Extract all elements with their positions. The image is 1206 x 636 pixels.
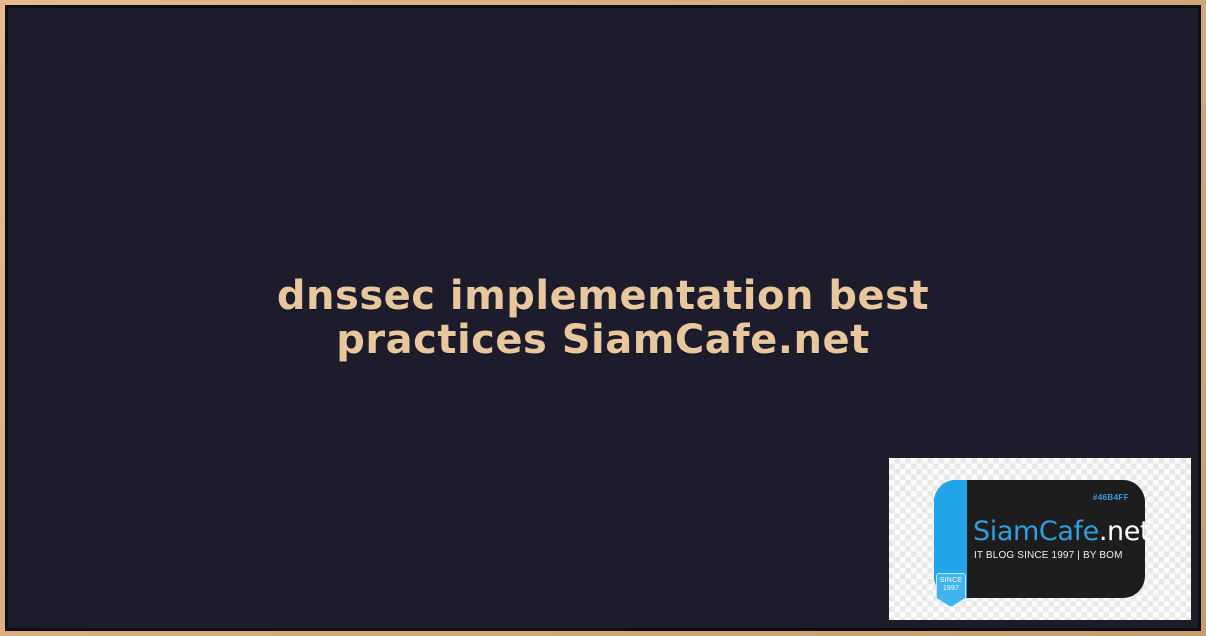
badge-line-year: 1997 (943, 585, 959, 593)
logo-blue-stripe: SINCE 1997 (934, 480, 967, 598)
logo-tagline: IT BLOG SINCE 1997 | BY BOM (974, 550, 1123, 562)
page-title: dnssec implementation best practices Sia… (203, 274, 1003, 362)
siamcafe-logo-card: SINCE 1997 #46B4FF SiamCafe.net IT BLOG … (934, 480, 1145, 598)
badge-line-since: SINCE (940, 577, 962, 585)
logo-wordmark-primary: SiamCafe (973, 516, 1099, 547)
logo-wordmark-suffix: .net (1099, 516, 1150, 547)
page-inner-border: dnssec implementation best practices Sia… (5, 5, 1201, 631)
logo-image-plate: SINCE 1997 #46B4FF SiamCafe.net IT BLOG … (889, 458, 1191, 620)
headline-container: dnssec implementation best practices Sia… (8, 274, 1198, 362)
page-canvas: dnssec implementation best practices Sia… (8, 8, 1198, 628)
since-1997-badge-icon: SINCE 1997 (936, 573, 966, 607)
logo-hex-color-label: #46B4FF (1093, 493, 1129, 502)
logo-body: #46B4FF SiamCafe.net IT BLOG SINCE 1997 … (967, 480, 1145, 598)
page-frame: dnssec implementation best practices Sia… (0, 0, 1206, 636)
logo-wordmark: SiamCafe.net (973, 517, 1150, 547)
